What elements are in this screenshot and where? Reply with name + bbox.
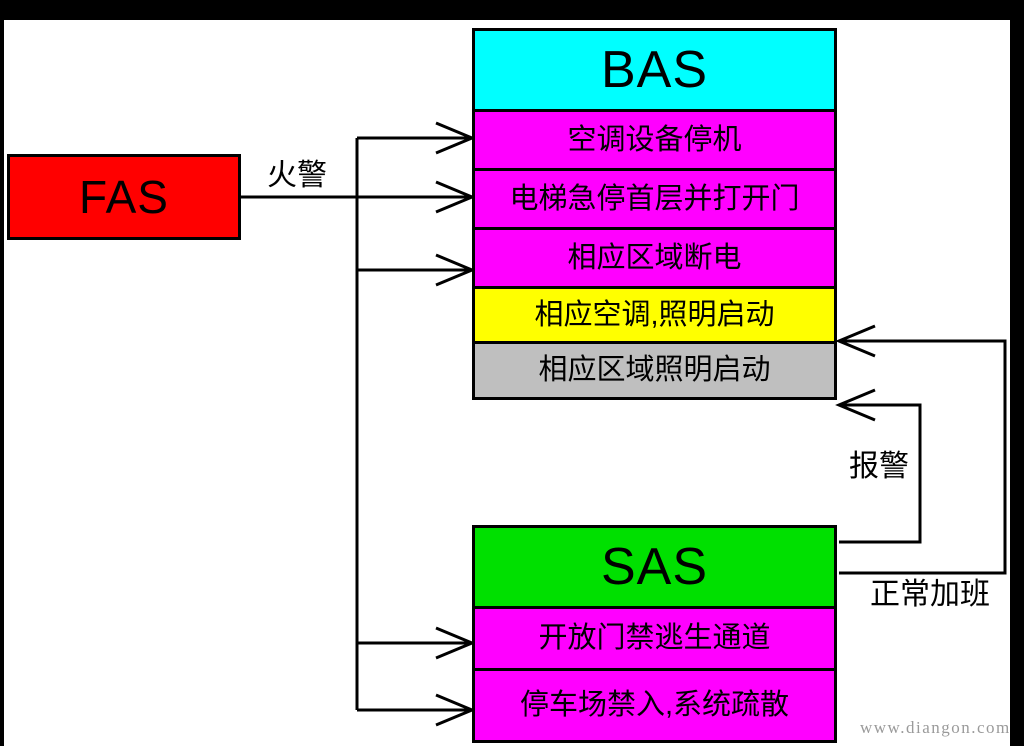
watermark: www.diangon.com <box>860 718 1010 738</box>
bas-action-row-1[interactable]: 空调设备停机 <box>472 112 837 171</box>
sas-action-row-2[interactable]: 停车场禁入,系统疏散 <box>472 671 837 743</box>
bas-action-label-1: 空调设备停机 <box>567 126 741 155</box>
node-bas-header[interactable]: BAS <box>472 28 837 112</box>
sas-action-label-1: 开放门禁逃生通道 <box>538 624 770 653</box>
bas-action-row-3[interactable]: 相应区域断电 <box>472 230 837 289</box>
arrowhead-sas-2 <box>436 695 472 725</box>
edge-label-alarm: 报警 <box>849 452 909 482</box>
bas-action-row-5[interactable]: 相应区域照明启动 <box>472 344 837 400</box>
sas-action-label-2: 停车场禁入,系统疏散 <box>520 691 789 720</box>
bas-action-label-4: 相应空调,照明启动 <box>534 301 774 330</box>
bas-action-label-5: 相应区域照明启动 <box>538 356 770 385</box>
bas-action-row-4[interactable]: 相应空调,照明启动 <box>472 289 837 344</box>
node-sas-header[interactable]: SAS <box>472 525 837 609</box>
arrowhead-bas-3 <box>436 255 472 285</box>
arrowhead-bas-2 <box>436 182 472 212</box>
arrowhead-bas-1 <box>436 123 472 153</box>
bas-action-label-3: 相应区域断电 <box>567 244 741 273</box>
edge-label-normal-overtime: 正常加班 <box>870 580 990 610</box>
arrowhead-sas-1 <box>436 628 472 658</box>
bas-action-label-2: 电梯急停首层并打开门 <box>509 185 799 214</box>
arrowhead-alarm <box>839 390 875 420</box>
node-sas-label: SAS <box>601 541 708 593</box>
diagram-canvas-frame: FAS BAS 空调设备停机 电梯急停首层并打开门 相应区域断电 相应空调,照明… <box>0 0 1024 746</box>
node-bas-label: BAS <box>601 44 708 96</box>
diagram-canvas: FAS BAS 空调设备停机 电梯急停首层并打开门 相应区域断电 相应空调,照明… <box>2 20 1010 746</box>
edge-label-fire-alarm: 火警 <box>267 161 327 191</box>
arrowhead-normal-overtime <box>839 326 875 356</box>
node-fas-label: FAS <box>79 174 169 220</box>
bas-action-row-2[interactable]: 电梯急停首层并打开门 <box>472 171 837 230</box>
sas-action-row-1[interactable]: 开放门禁逃生通道 <box>472 609 837 671</box>
node-fas[interactable]: FAS <box>7 154 241 240</box>
